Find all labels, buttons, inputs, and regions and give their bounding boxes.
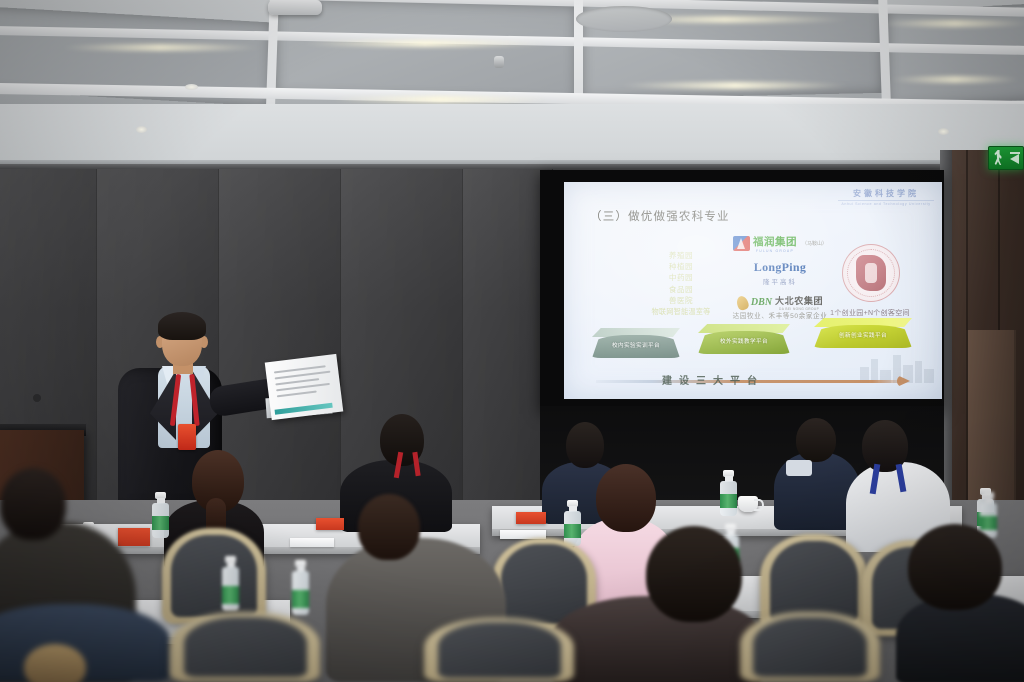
fulun-mark-icon	[733, 236, 750, 251]
tea-cup	[738, 496, 758, 512]
ceiling-vent	[576, 6, 672, 32]
document-folder	[118, 528, 150, 546]
presenter-hair	[158, 312, 206, 340]
wall-rail	[0, 164, 1024, 169]
platform-2: 校外实践教学平台	[698, 324, 790, 354]
platform-2-label: 校外实践教学平台	[698, 337, 790, 345]
downlight-icon	[185, 84, 198, 90]
platform-1: 校内实验实训平台	[592, 328, 680, 358]
microphone-icon	[33, 394, 41, 402]
longping-cn: 隆平高科	[714, 276, 846, 286]
longping-en: LongPing	[714, 260, 846, 275]
water-bottle	[222, 556, 243, 612]
incubator-label: 1个创业园+N个创客空间	[816, 308, 924, 318]
platform-1-label: 校内实验实训平台	[592, 341, 680, 349]
attendee-head	[358, 494, 420, 560]
chair	[170, 612, 320, 682]
projection-screen: 安徽科技学院 Anhui Science and Technology Univ…	[564, 182, 942, 399]
attendee-head	[646, 526, 742, 622]
document-folder	[516, 512, 546, 524]
slide-partner-logos: 福润集团 FULUN GROUP （马鞍山） LongPing 隆平高科 DBN…	[714, 234, 846, 318]
attendee-head	[596, 464, 656, 532]
attendee-head	[566, 422, 604, 468]
fulun-note: （马鞍山）	[802, 240, 827, 247]
attendee-collar	[786, 460, 812, 476]
water-bottle	[720, 470, 737, 516]
wall-downlight-icon	[938, 128, 949, 135]
attendee-head	[796, 418, 836, 462]
paper-sheet	[290, 538, 334, 547]
platform-3: 创新创业实践平台	[814, 318, 912, 348]
arrow-right-icon	[1010, 154, 1019, 164]
attendee-head	[908, 524, 1002, 610]
ceiling	[0, 0, 1024, 112]
chair	[740, 612, 880, 682]
water-bottle	[292, 560, 313, 616]
ceiling-speaker	[268, 0, 322, 15]
attendee-head	[24, 644, 86, 682]
incubator-seal-icon	[842, 244, 900, 302]
chair	[162, 528, 266, 624]
platform-3-label: 创新创业实践平台	[814, 331, 912, 339]
slide-footer-banner: 建设三大平台	[596, 372, 910, 390]
conference-room-photo: 安徽科技学院 Anhui Science and Technology Univ…	[0, 0, 1024, 682]
water-bottle	[980, 492, 997, 538]
dbn-en: DBN	[751, 297, 772, 308]
document-folder	[316, 518, 344, 530]
slide-university-logo: 安徽科技学院 Anhui Science and Technology Univ…	[838, 188, 934, 210]
fulun-en: FULUN GROUP	[753, 249, 797, 253]
dbn-seed-icon	[735, 294, 750, 311]
dbn-cn: 大北农集团	[775, 294, 823, 307]
footer-banner-text: 建设三大平台	[662, 372, 764, 387]
running-man-icon	[994, 150, 1003, 165]
fulun-cn: 福润集团	[753, 234, 797, 249]
attendee-body	[552, 596, 762, 682]
logo-longping: LongPing 隆平高科	[714, 260, 846, 286]
slide-logo-cn: 安徽科技学院	[838, 188, 934, 199]
presenter-document	[265, 354, 344, 420]
slide-logo-en: Anhui Science and Technology University	[838, 200, 934, 206]
presenter-badge	[178, 424, 196, 450]
chair	[424, 618, 574, 682]
attendee-head	[0, 468, 66, 540]
slide-title: （三）做优做强农科专业	[590, 208, 730, 224]
exit-sign	[988, 146, 1024, 170]
arrow-right-icon	[897, 375, 910, 387]
wall-downlight-icon	[136, 126, 147, 133]
logo-fulun: 福润集团 FULUN GROUP （马鞍山）	[714, 234, 846, 253]
sprinkler-icon	[494, 56, 504, 68]
